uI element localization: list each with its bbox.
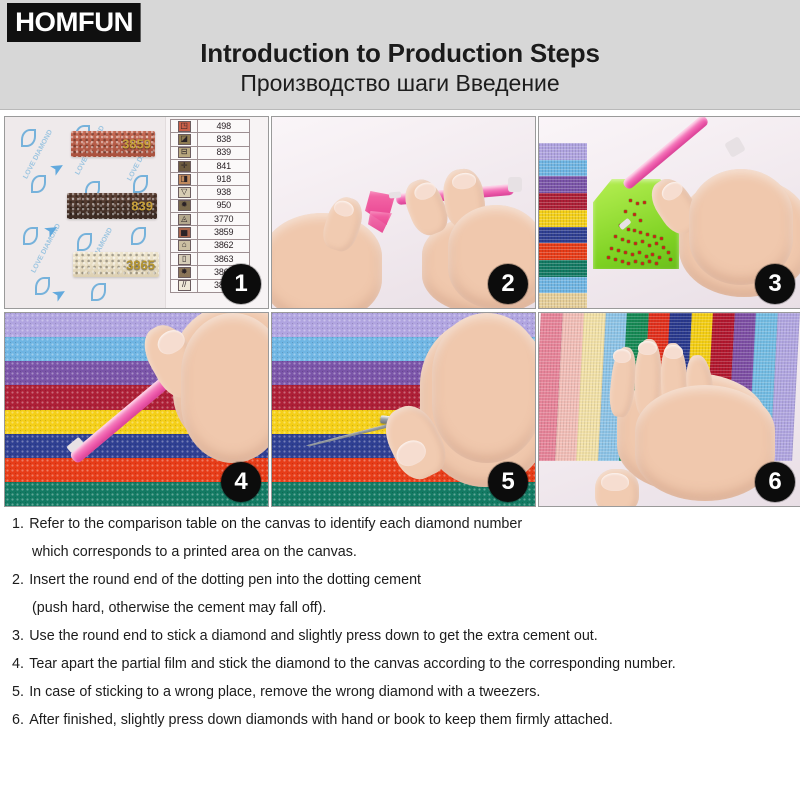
step-badge-1: 1 (221, 264, 261, 304)
diamond-bead (662, 246, 665, 249)
arrow-icon: ➤ (41, 219, 61, 241)
instruction-text: Use the round end to stick a diamond and… (29, 626, 755, 645)
canvas-stripe (539, 160, 587, 177)
diamond-bead (655, 262, 658, 265)
step-panel-4: 4 (4, 312, 269, 507)
fingernail (601, 473, 629, 491)
diamond-bead (627, 240, 630, 243)
instruction-line: (push hard, otherwise the cement may fal… (32, 598, 756, 617)
diamond-bead (638, 251, 641, 254)
step-badge-5: 5 (488, 462, 528, 502)
diamond-bead (651, 253, 654, 256)
canvas-stripe (539, 210, 587, 227)
diamond-bead (653, 235, 656, 238)
step-panel-1: LOVE DIAMOND LOVE DIAMOND LOVE DIAMOND L… (4, 116, 269, 309)
page-title: Introduction to Production Steps (0, 38, 800, 68)
diamond-bead (614, 258, 617, 261)
diamond-bead (648, 244, 651, 247)
protective-film: LOVE DIAMOND LOVE DIAMOND LOVE DIAMOND L… (5, 117, 166, 308)
title-block: Introduction to Production Steps Произво… (0, 38, 800, 97)
instruction-line: 3.Use the round end to stick a diamond a… (12, 626, 755, 645)
instruction-text: Tear apart the partial film and stick th… (29, 654, 755, 673)
chart-symbol: ✹ (171, 199, 198, 212)
chart-symbol: ◳ (171, 120, 198, 133)
chart-number: 498 (198, 120, 250, 133)
diamond-bead (643, 201, 646, 204)
instruction-text: Insert the round end of the dotting pen … (29, 570, 755, 589)
step-panel-5: 5 (271, 312, 536, 507)
instruction-number: 1. (12, 514, 29, 533)
symbol-icon: // (178, 280, 191, 291)
instruction-line: which corresponds to a printed area on t… (32, 542, 756, 561)
symbol-icon: ▯ (178, 254, 191, 265)
instruction-number: 6. (12, 710, 29, 729)
symbol-icon: ◳ (178, 121, 191, 132)
instructions-list: 1.Refer to the comparison table on the c… (0, 508, 800, 738)
instruction-number: 2. (12, 570, 29, 589)
instruction-text: which corresponds to a printed area on t… (32, 542, 756, 561)
arrow-icon: ➤ (47, 157, 67, 179)
canvas-stripe (539, 176, 587, 193)
chart-symbol: ✛ (171, 159, 198, 172)
chart-row: ▽938 (171, 186, 250, 199)
symbol-icon: ⌂ (178, 240, 191, 251)
diamond-bead (636, 202, 639, 205)
diamond-bead (610, 247, 613, 250)
canvas-stripe (539, 227, 587, 244)
chart-number: 841 (198, 159, 250, 172)
chart-symbol: ▯ (171, 252, 198, 265)
steps-grid: LOVE DIAMOND LOVE DIAMOND LOVE DIAMOND L… (0, 111, 800, 507)
diamond-bead (634, 260, 637, 263)
diamond-bead (667, 251, 670, 254)
diamond-bead (639, 231, 642, 234)
instruction-number: 3. (12, 626, 29, 645)
chart-row: ⊟839 (171, 146, 250, 159)
step-badge-4: 4 (221, 462, 261, 502)
canvas-stripe (539, 193, 587, 210)
canvas-stripe (539, 143, 587, 160)
instruction-line: 5.In case of sticking to a wrong place, … (12, 682, 755, 701)
right-palm (432, 313, 536, 463)
diamond-bead (617, 249, 620, 252)
pen-tip (389, 191, 401, 198)
chart-symbol: ⌂ (171, 239, 198, 252)
step-badge-2: 2 (488, 264, 528, 304)
diamond-bead (633, 213, 636, 216)
palm (635, 385, 775, 501)
chart-row: ✛841 (171, 159, 250, 172)
instruction-line: 2.Insert the round end of the dotting pe… (12, 570, 755, 589)
chart-number: 938 (198, 186, 250, 199)
chart-number: 918 (198, 173, 250, 186)
diamond-bead (631, 253, 634, 256)
symbol-icon: ✛ (178, 161, 191, 172)
diamond-bead (629, 199, 632, 202)
chart-symbol: ◪ (171, 133, 198, 146)
instruction-line: 6.After finished, slightly press down di… (12, 710, 755, 729)
step-panel-6: 6 (538, 312, 800, 507)
canvas-stripe (539, 260, 587, 277)
chart-number: 3859 (198, 226, 250, 239)
symbol-icon: ▅ (178, 227, 191, 238)
pen-cap (508, 177, 522, 192)
diamond-bag: 3865 (73, 252, 159, 277)
right-palm (181, 313, 269, 463)
instruction-line: 1.Refer to the comparison table on the c… (12, 514, 755, 533)
fingernail (638, 341, 657, 355)
instruction-number: 5. (12, 682, 29, 701)
chart-row: ◪838 (171, 133, 250, 146)
diamond-bead (646, 233, 649, 236)
chart-symbol: ◨ (171, 173, 198, 186)
instruction-text: In case of sticking to a wrong place, re… (29, 682, 755, 701)
diamond-bead (641, 262, 644, 265)
chart-symbol: ⊟ (171, 146, 198, 159)
page-subtitle: Производство шаги Введение (0, 69, 800, 97)
instruction-number: 4. (12, 654, 29, 673)
diamond-bead (624, 210, 627, 213)
diamond-bead (624, 251, 627, 254)
canvas-stripe (539, 277, 587, 294)
chart-number: 3770 (198, 213, 250, 226)
symbol-icon: ⊟ (178, 147, 191, 158)
diamond-bead (645, 255, 648, 258)
symbol-icon: ◪ (178, 134, 191, 145)
chart-number: 3862 (198, 239, 250, 252)
chart-symbol: ◬ (171, 213, 198, 226)
chart-symbol: // (171, 279, 198, 292)
instruction-text: After finished, slightly press down diam… (29, 710, 755, 729)
diamond-bead (658, 256, 661, 259)
diamond-bead (639, 219, 642, 222)
canvas-swatch (539, 143, 587, 309)
fingernail (664, 345, 683, 359)
canvas-stripe (539, 243, 587, 260)
chart-row: ◨918 (171, 173, 250, 186)
symbol-icon: ✹ (178, 200, 191, 211)
diamond-bead (648, 260, 651, 263)
chart-number: 950 (198, 199, 250, 212)
symbol-icon: ✸ (178, 267, 191, 278)
diamond-bead (655, 242, 658, 245)
instruction-text: Refer to the comparison table on the can… (29, 514, 755, 533)
instruction-line: 4.Tear apart the partial film and stick … (12, 654, 755, 673)
chart-symbol: ▽ (171, 186, 198, 199)
arrow-icon: ➤ (49, 283, 69, 305)
canvas-stripe (539, 293, 587, 309)
diamond-bead (633, 229, 636, 232)
diamond-bead (621, 238, 624, 241)
chart-row: ▅3859 (171, 226, 250, 239)
chart-symbol: ✸ (171, 266, 198, 279)
chart-row: ◳498 (171, 120, 250, 133)
step-panel-2: 2 (271, 116, 536, 309)
chart-row: ⌂3862 (171, 239, 250, 252)
brand-logo: HOMFUN (7, 3, 141, 42)
page-header: HOMFUN Introduction to Production Steps … (0, 0, 800, 110)
chart-row: ◬3770 (171, 213, 250, 226)
instruction-text: (push hard, otherwise the cement may fal… (32, 598, 756, 617)
diamond-bead (614, 235, 617, 238)
step-badge-6: 6 (755, 462, 795, 502)
diamond-bead (627, 228, 630, 231)
diamond-bead (669, 258, 672, 261)
fingernail (613, 349, 631, 363)
step-badge-3: 3 (755, 264, 795, 304)
chart-symbol: ▅ (171, 226, 198, 239)
diamond-bead (627, 262, 630, 265)
diamond-bead (634, 242, 637, 245)
diamond-bead (641, 240, 644, 243)
step-panel-3: 3 (538, 116, 800, 309)
symbol-icon: ▽ (178, 187, 191, 198)
diamond-bead (621, 260, 624, 263)
symbol-icon: ◬ (178, 214, 191, 225)
chart-row: ✹950 (171, 199, 250, 212)
diamond-bead (660, 237, 663, 240)
diamond-bag: 839 (67, 193, 157, 219)
diamond-bead (607, 256, 610, 259)
instruction-sheet: HOMFUN Introduction to Production Steps … (0, 0, 800, 800)
symbol-icon: ◨ (178, 174, 191, 185)
chart-number: 838 (198, 133, 250, 146)
chart-number: 839 (198, 146, 250, 159)
diamond-bag: 3859 (71, 131, 155, 157)
